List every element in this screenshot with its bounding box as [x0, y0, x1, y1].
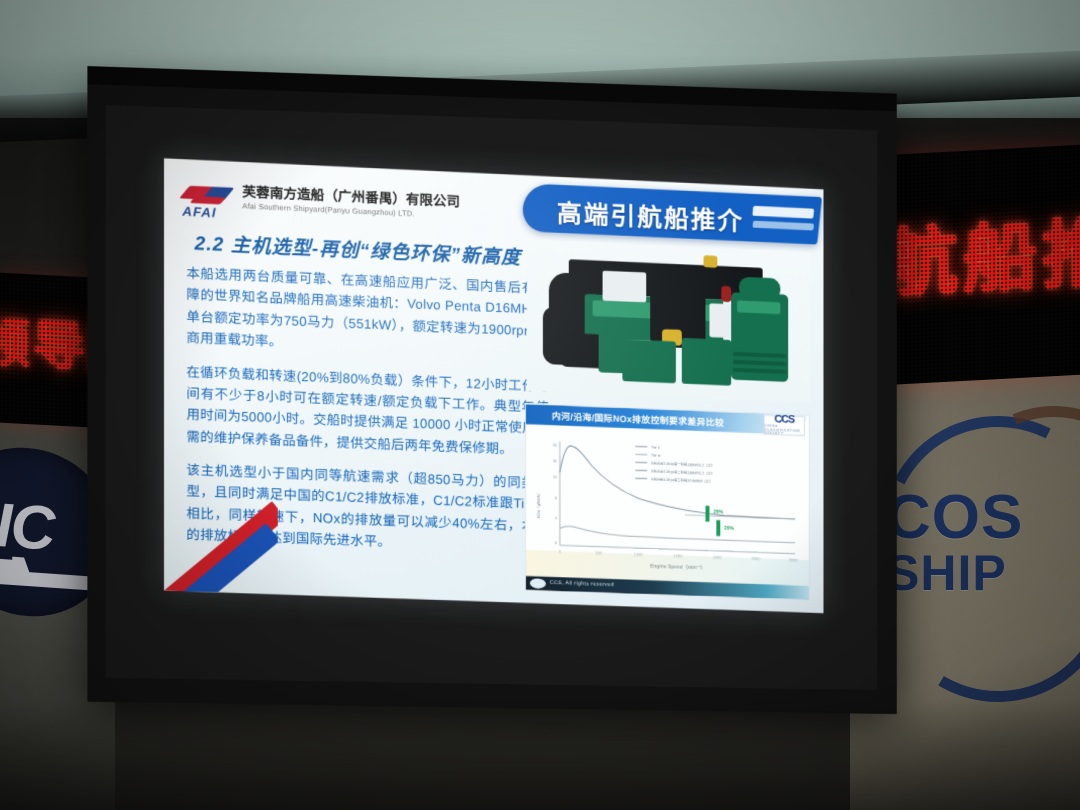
company-header: AFAI 芙蓉南方造船（广州番禺）有限公司 Afai Southern Ship… — [182, 181, 460, 228]
room-photo: 领导嘉 航船推 SIC COS SHIP 高端引航船推介 — [0, 0, 1080, 810]
led-sign-right: 航船推 — [876, 144, 1080, 385]
svg-text:4: 4 — [555, 516, 557, 520]
svg-text:Tier III: Tier III — [651, 453, 660, 457]
csic-logo-text: SIC — [0, 487, 53, 565]
slide-section-title: 2.2 主机选型-再创“绿色环保”新高度 — [195, 228, 521, 270]
engine-photo — [527, 239, 810, 402]
presentation-slide: 高端引航船推介 AFAI 芙蓉南方造船（广州番禺）有限公司 Afai South… — [164, 158, 823, 613]
cosco-logo-text-line2: SHIP — [886, 544, 1007, 602]
slide-banner: 高端引航船推介 — [523, 183, 820, 244]
chart-footer-text: CCS, All rights reserved — [550, 580, 614, 588]
paragraph: 在循环负载和转速(20%到80%负载）条件下，12小时工作时间有不少于8小时可在… — [186, 361, 548, 461]
svg-text:Tier II: Tier II — [651, 445, 659, 449]
svg-text:GB15097-2016第一阶段130kW以上（工）: GB15097-2016第一阶段130kW以上（工） — [651, 460, 714, 467]
svg-text:20%: 20% — [724, 525, 734, 531]
led-sign-right-text: 航船推 — [884, 193, 1080, 312]
afai-logo-icon: AFAI — [182, 181, 235, 218]
svg-text:NOx（g/kWh）: NOx（g/kWh） — [536, 491, 541, 518]
svg-text:20: 20 — [553, 443, 557, 447]
svg-text:12: 12 — [553, 475, 557, 479]
cosco-logo-text-line1: COS — [886, 482, 1023, 553]
svg-text:GB15097-2016第二阶段130kW以上（工）: GB15097-2016第二阶段130kW以上（工） — [651, 468, 714, 475]
nox-chart-card: 内河/沿海/国际NOx排放控制要求差异比较 CCS CHINA CLASSIFI… — [525, 403, 810, 601]
company-names: 芙蓉南方造船（广州番禺）有限公司 Afai Southern Shipyard(… — [242, 184, 460, 221]
afai-logo-text: AFAI — [182, 204, 216, 221]
svg-text:GB20891-2014第三阶段37-560kW（工）: GB20891-2014第三阶段37-560kW（工） — [651, 476, 712, 483]
svg-text:20%: 20% — [713, 509, 723, 515]
ccs-logo: CCS CHINA CLASSIFICATION SOCIETY — [764, 415, 805, 436]
svg-text:8: 8 — [555, 496, 557, 500]
slide-corner-ribbon — [164, 498, 278, 595]
floor-shadow — [0, 700, 1080, 810]
svg-text:0: 0 — [555, 541, 557, 545]
chart-footer-logo-icon — [530, 578, 546, 589]
svg-text:16: 16 — [553, 459, 557, 463]
projection-screen: 高端引航船推介 AFAI 芙蓉南方造船（广州番禺）有限公司 Afai South… — [87, 82, 896, 714]
afai-swoosh-shape-2 — [190, 196, 226, 204]
paragraph: 本船选用两台质量可靠、在高速船应用广泛、国内售后有保障的世界知名品牌船用高速柴油… — [186, 262, 548, 363]
